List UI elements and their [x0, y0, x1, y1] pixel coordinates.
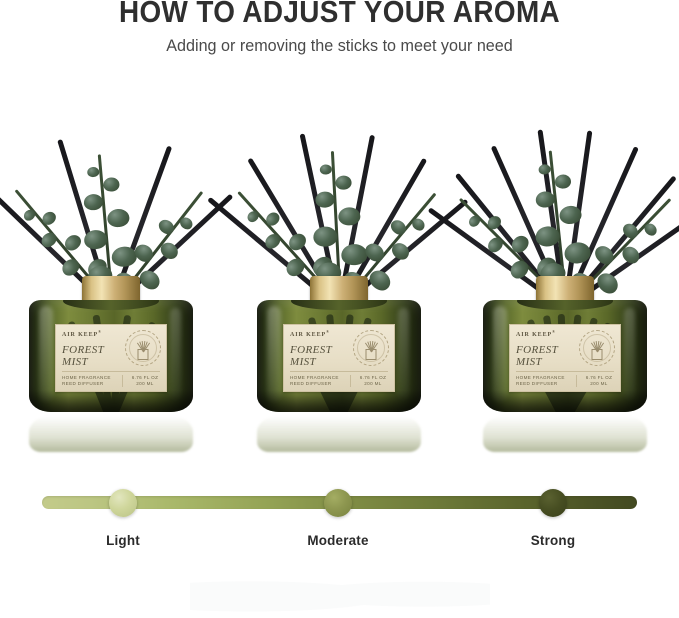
slider-handle-moderate[interactable]	[324, 489, 352, 517]
label-meta: HOME FRAGRANCE REED DIFFUSER 6.76 FL OZ …	[290, 375, 390, 387]
slider-label-light: Light	[56, 532, 190, 548]
background-watermark	[190, 570, 490, 614]
product-label: AIR KEEP® FOREST MIST HOME FRAGRANCE REE…	[509, 324, 621, 392]
product-row: AIR KEEP® FOREST MIST HOME FRAGRANCE REE…	[0, 96, 679, 456]
infographic-canvas: HOW TO ADJUST YOUR AROMA Adding or remov…	[0, 0, 679, 618]
product-light: AIR KEEP® FOREST MIST HOME FRAGRANCE REE…	[0, 96, 224, 456]
slider-handle-strong[interactable]	[539, 489, 567, 517]
page-subtitle: Adding or removing the sticks to meet yo…	[17, 36, 662, 56]
product-label: AIR KEEP® FOREST MIST HOME FRAGRANCE REE…	[55, 324, 167, 392]
product-strong: AIR KEEP® FOREST MIST HOME FRAGRANCE REE…	[452, 96, 678, 456]
slider-handle-light[interactable]	[109, 489, 137, 517]
diffuser-bottle-strong: AIR KEEP® FOREST MIST HOME FRAGRANCE REE…	[483, 300, 647, 418]
product-moderate: AIR KEEP® FOREST MIST HOME FRAGRANCE REE…	[226, 96, 452, 456]
product-label: AIR KEEP® FOREST MIST HOME FRAGRANCE REE…	[283, 324, 395, 392]
bottle-reflection	[29, 416, 193, 452]
slider-label-strong: Strong	[486, 532, 620, 548]
quality-seal-icon	[125, 330, 161, 366]
slider-label-moderate: Moderate	[271, 532, 405, 548]
diffuser-bottle-light: AIR KEEP® FOREST MIST HOME FRAGRANCE REE…	[29, 300, 193, 418]
page-title: HOW TO ADJUST YOUR AROMA	[34, 0, 645, 30]
bottle-reflection	[483, 416, 647, 452]
quality-seal-icon	[353, 330, 389, 366]
label-meta: HOME FRAGRANCE REED DIFFUSER 6.76 FL OZ …	[516, 375, 616, 387]
bottle-reflection	[257, 416, 421, 452]
quality-seal-icon	[579, 330, 615, 366]
diffuser-bottle-moderate: AIR KEEP® FOREST MIST HOME FRAGRANCE REE…	[257, 300, 421, 418]
label-meta: HOME FRAGRANCE REED DIFFUSER 6.76 FL OZ …	[62, 375, 162, 387]
intensity-slider[interactable]: Light Moderate Strong	[0, 476, 679, 556]
